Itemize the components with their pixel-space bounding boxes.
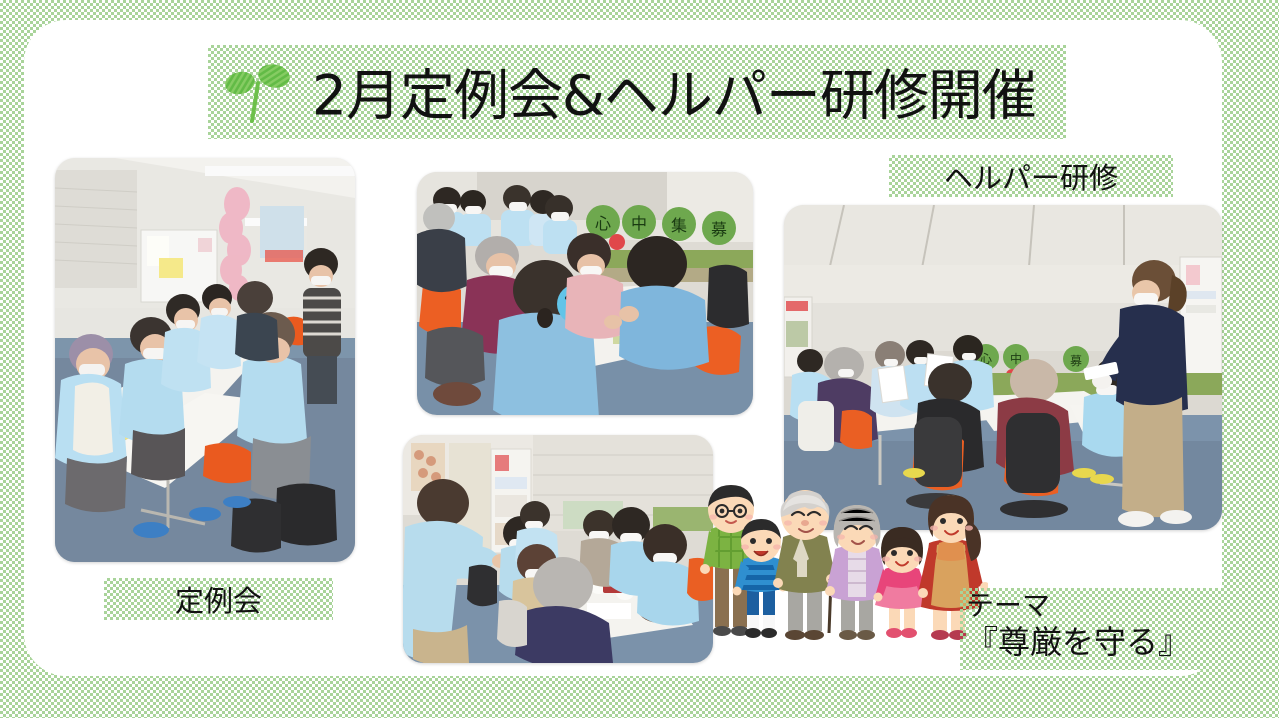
theme-value: 『尊厳を守る』 bbox=[966, 624, 1222, 661]
sprout-icon bbox=[222, 61, 292, 123]
label-regular-meeting: 定例会 bbox=[104, 578, 333, 620]
svg-text:集: 集 bbox=[671, 216, 687, 235]
photo-discussion bbox=[403, 435, 713, 663]
svg-text:中: 中 bbox=[631, 214, 647, 233]
family-illustration bbox=[693, 483, 988, 668]
title-banner: 2月定例会&ヘルパー研修開催 bbox=[208, 45, 1066, 139]
theme-heading: テーマ bbox=[966, 590, 1222, 622]
photo-training: 心 中 募 bbox=[784, 205, 1222, 530]
photo-meeting-top: 心 中 集 募 bbox=[417, 172, 753, 415]
page-title: 2月定例会&ヘルパー研修開催 bbox=[312, 50, 1036, 130]
theme-block: テーマ 『尊厳を守る』 bbox=[960, 588, 1228, 670]
slide-canvas: 2月定例会&ヘルパー研修開催 bbox=[0, 0, 1279, 718]
svg-text:募: 募 bbox=[711, 220, 727, 239]
svg-text:募: 募 bbox=[1070, 354, 1082, 368]
figure-grandmother bbox=[825, 505, 888, 640]
figure-grandfather bbox=[773, 490, 839, 640]
photo-meeting-left bbox=[55, 158, 355, 562]
label-helper-training: ヘルパー研修 bbox=[889, 155, 1173, 197]
svg-text:心: 心 bbox=[595, 214, 611, 233]
